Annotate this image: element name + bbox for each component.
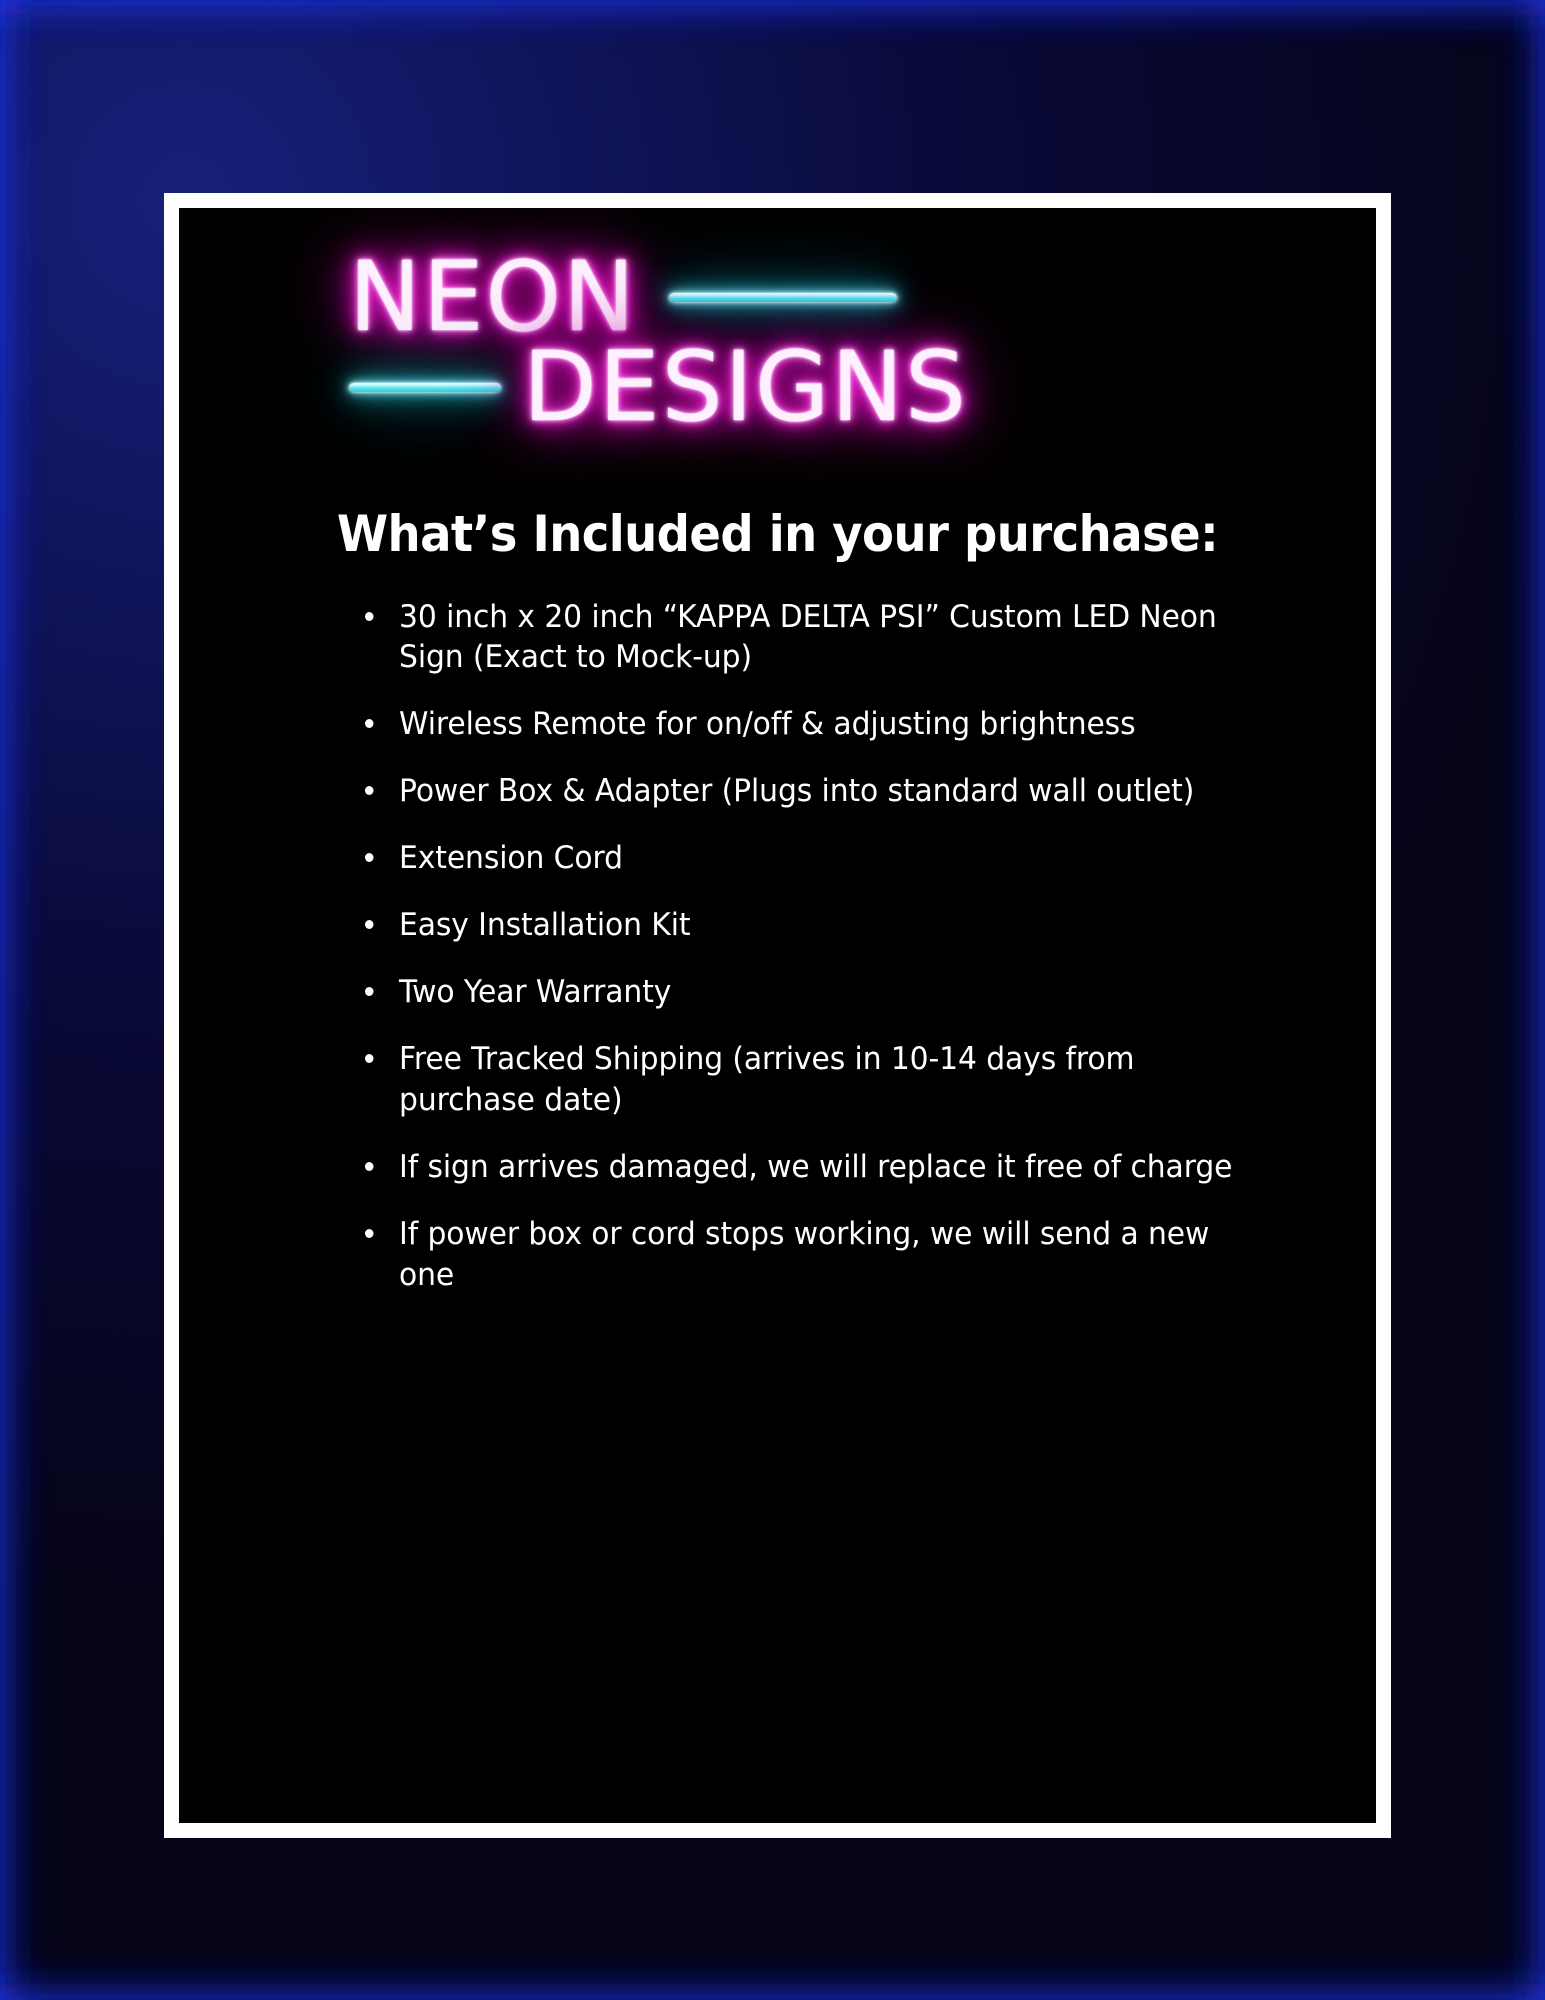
neon-designs-logo: NEON DESIGNS bbox=[179, 235, 1376, 490]
bullet-dot-icon bbox=[365, 719, 374, 728]
list-item-label: Power Box & Adapter (Plugs into standard… bbox=[399, 771, 1254, 812]
poster-page: NEON DESIGNS What’s Included in your pur… bbox=[0, 0, 1545, 2000]
bullet-dot-icon bbox=[365, 987, 374, 996]
list-item-label: Free Tracked Shipping (arrives in 10-14 … bbox=[399, 1039, 1254, 1121]
list-item: Two Year Warranty bbox=[365, 972, 1254, 1013]
bullet-dot-icon bbox=[365, 1229, 374, 1238]
bullet-dot-icon bbox=[365, 786, 374, 795]
list-item: Extension Cord bbox=[365, 838, 1254, 879]
black-content-card: NEON DESIGNS What’s Included in your pur… bbox=[179, 208, 1376, 1823]
list-item: If sign arrives damaged, we will replace… bbox=[365, 1147, 1254, 1188]
list-item-label: Two Year Warranty bbox=[399, 972, 1254, 1013]
list-item-label: Easy Installation Kit bbox=[399, 905, 1254, 946]
cyan-neon-bar-bottom-icon bbox=[349, 383, 501, 392]
list-item: Wireless Remote for on/off & adjusting b… bbox=[365, 704, 1254, 745]
bullet-dot-icon bbox=[365, 920, 374, 929]
list-item-label: If sign arrives damaged, we will replace… bbox=[399, 1147, 1254, 1188]
bullet-dot-icon bbox=[365, 612, 374, 621]
list-item: If power box or cord stops working, we w… bbox=[365, 1214, 1254, 1296]
bullet-dot-icon bbox=[365, 1054, 374, 1063]
list-item: Easy Installation Kit bbox=[365, 905, 1254, 946]
list-item: 30 inch x 20 inch “KAPPA DELTA PSI” Cust… bbox=[365, 597, 1254, 679]
included-items-list: 30 inch x 20 inch “KAPPA DELTA PSI” Cust… bbox=[179, 597, 1376, 1296]
list-item-label: If power box or cord stops working, we w… bbox=[399, 1214, 1254, 1296]
white-frame-border: NEON DESIGNS What’s Included in your pur… bbox=[164, 193, 1391, 1838]
bullet-dot-icon bbox=[365, 853, 374, 862]
list-item-label: Wireless Remote for on/off & adjusting b… bbox=[399, 704, 1254, 745]
bullet-dot-icon bbox=[365, 1162, 374, 1171]
list-item-label: Extension Cord bbox=[399, 838, 1254, 879]
logo-row-bottom: DESIGNS bbox=[349, 339, 968, 435]
list-item-label: 30 inch x 20 inch “KAPPA DELTA PSI” Cust… bbox=[399, 597, 1254, 679]
page-title: What’s Included in your purchase: bbox=[221, 508, 1334, 561]
cyan-neon-bar-top-icon bbox=[669, 293, 897, 302]
list-item: Power Box & Adapter (Plugs into standard… bbox=[365, 771, 1254, 812]
logo-word-designs: DESIGNS bbox=[523, 339, 968, 435]
list-item: Free Tracked Shipping (arrives in 10-14 … bbox=[365, 1039, 1254, 1121]
